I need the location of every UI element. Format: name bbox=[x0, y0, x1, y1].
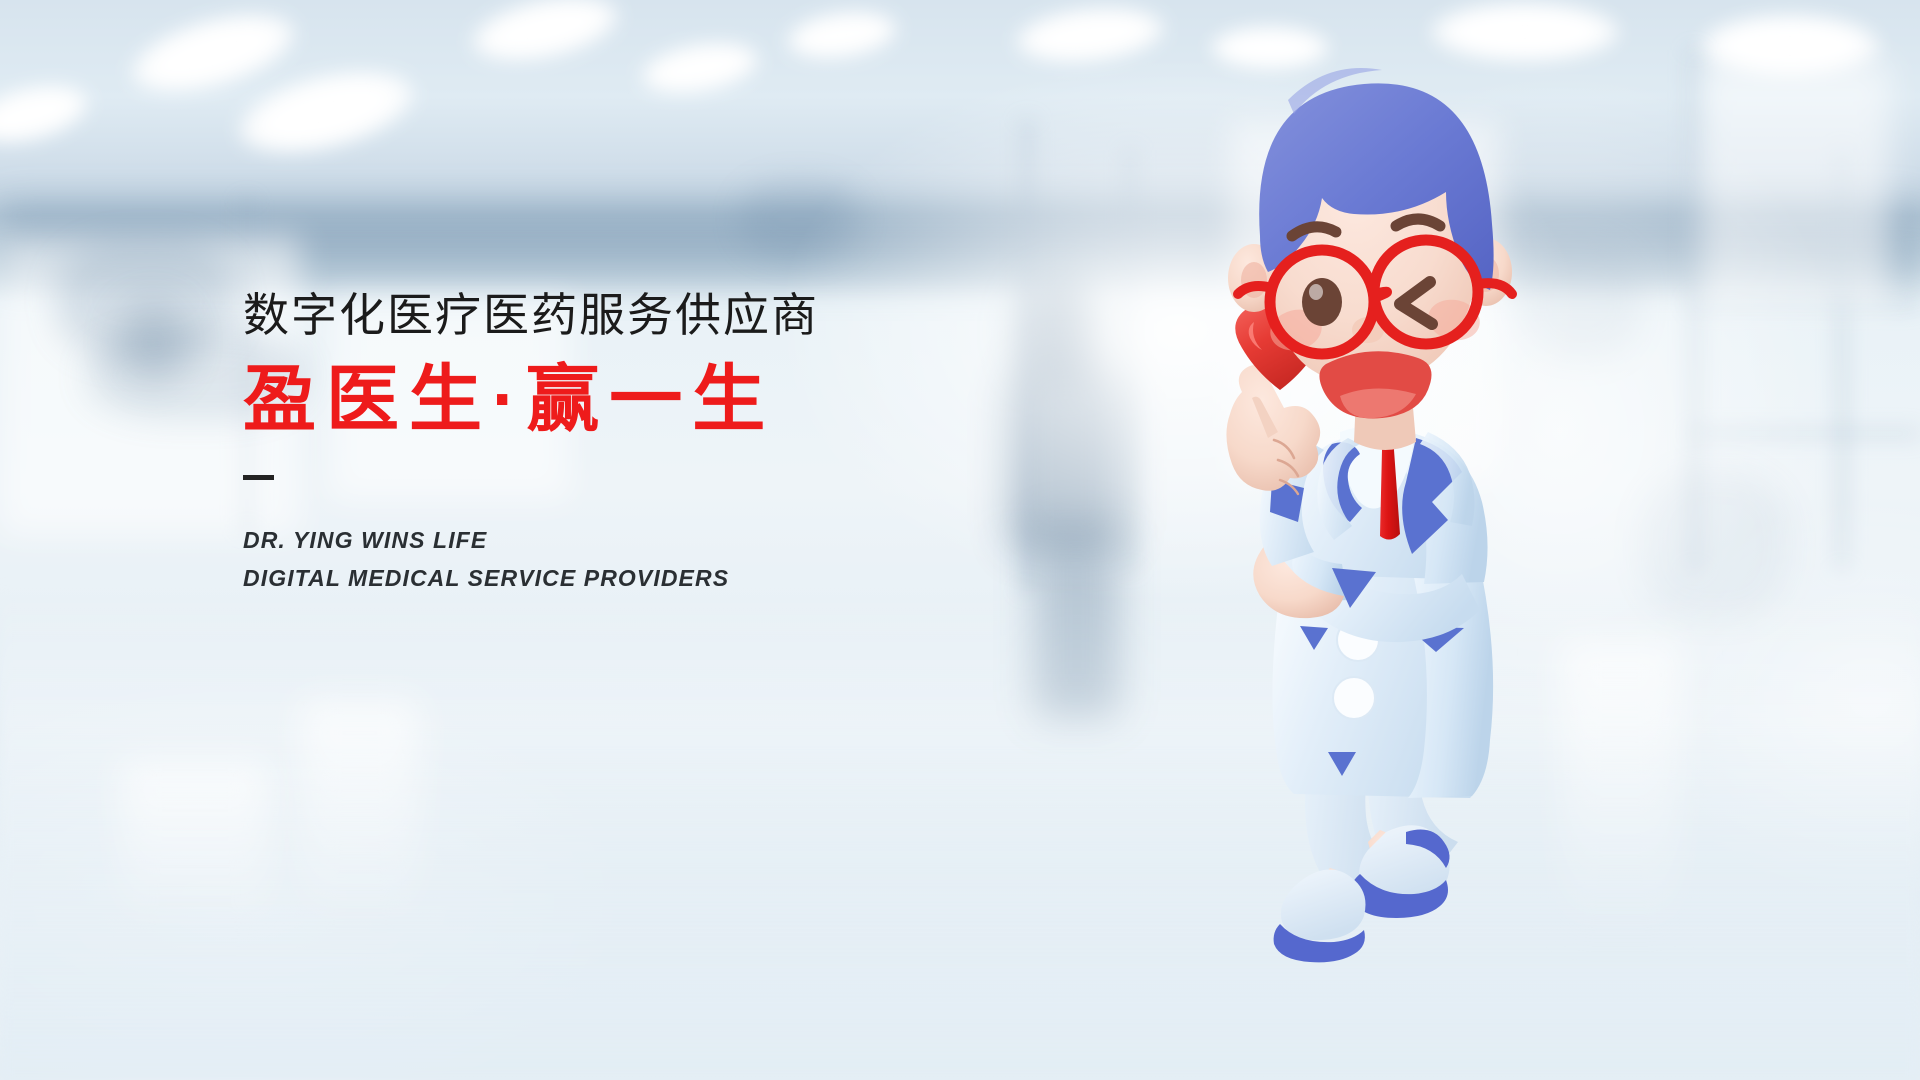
divider-rule bbox=[243, 475, 274, 480]
hero-english-block: DR. YING WINS LIFE DIGITAL MEDICAL SERVI… bbox=[243, 522, 1003, 597]
hero-copy: 数字化医疗医药服务供应商 盈医生·赢一生 DR. YING WINS LIFE … bbox=[243, 290, 1003, 597]
mascot-eye-open bbox=[1302, 278, 1342, 326]
floor-highlight bbox=[300, 700, 420, 930]
hero-english-line-2: DIGITAL MEDICAL SERVICE PROVIDERS bbox=[243, 560, 1003, 597]
floor-highlight bbox=[120, 760, 270, 930]
hero-banner: 数字化医疗医药服务供应商 盈医生·赢一生 DR. YING WINS LIFE … bbox=[0, 0, 1920, 1080]
mascot-doctor-character bbox=[1180, 40, 1600, 1040]
hero-english-line-1: DR. YING WINS LIFE bbox=[243, 522, 1003, 559]
hero-headline-chinese: 盈医生·赢一生 bbox=[243, 361, 1003, 440]
hero-subtitle-chinese: 数字化医疗医药服务供应商 bbox=[243, 290, 1003, 341]
